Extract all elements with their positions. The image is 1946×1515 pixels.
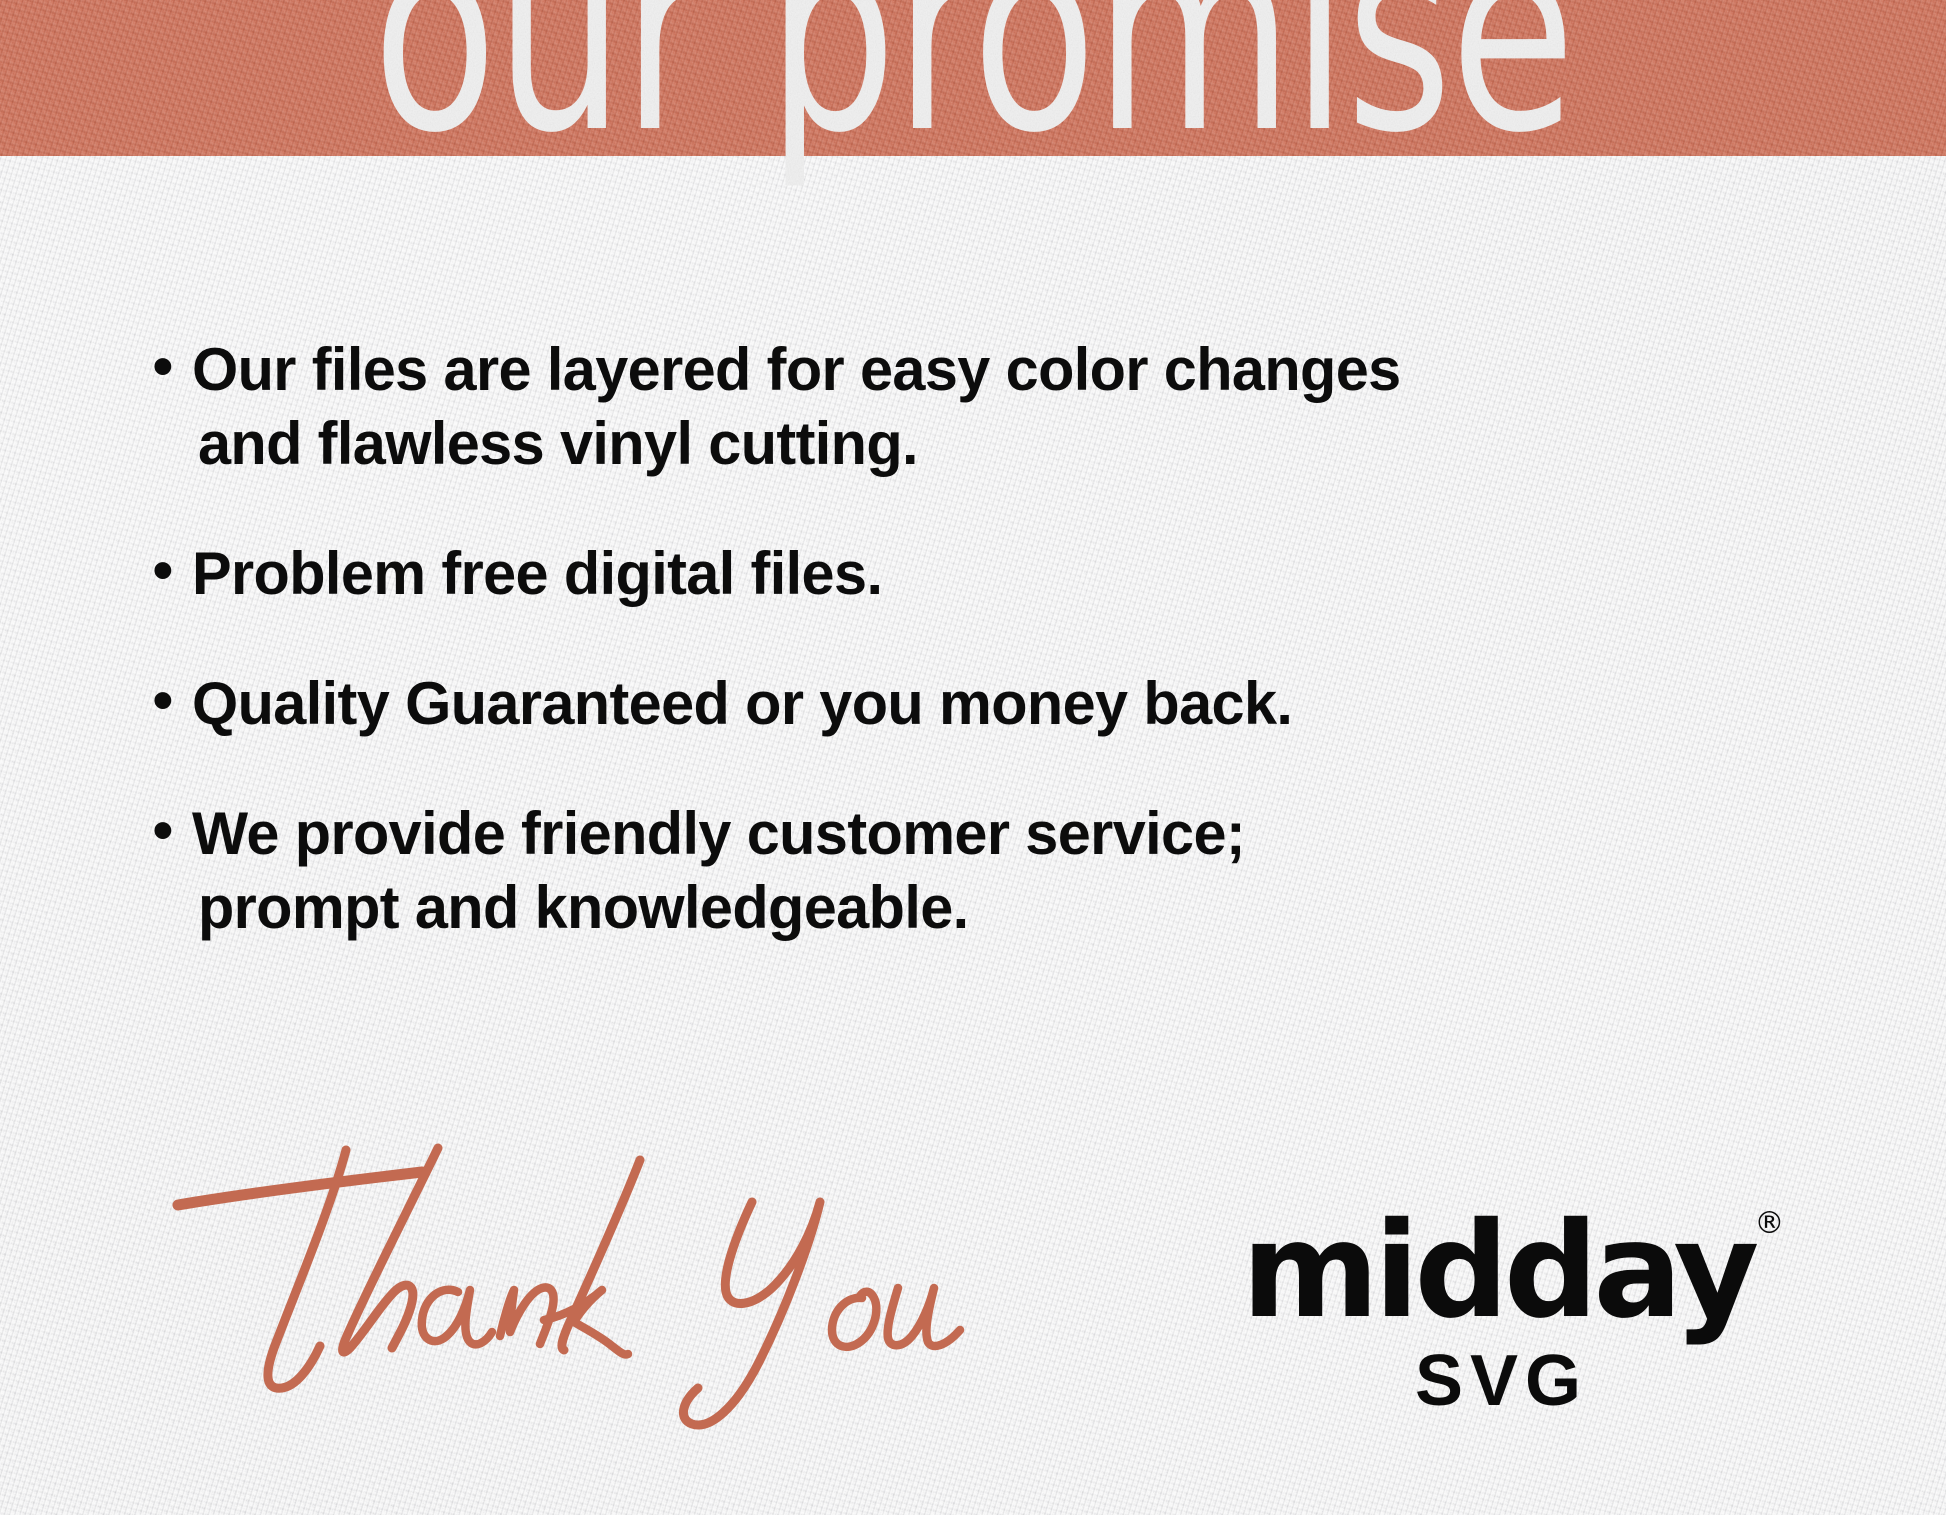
promise-item-text: We provide friendly customer service; pr… — [192, 797, 1756, 945]
logo-wordmark-text: midday — [1242, 1194, 1755, 1348]
thank-you-signature: Thank You — [170, 1140, 1050, 1430]
promise-card: our promise • Our files are layered for … — [0, 0, 1946, 1515]
bullet-icon: • — [152, 535, 192, 607]
promise-item: • Our files are layered for easy color c… — [152, 333, 1772, 481]
promise-item: • Quality Guaranteed or you money back. — [152, 667, 1772, 741]
promise-item-line2: prompt and knowledgeable. — [192, 871, 1756, 945]
bullet-icon: • — [152, 665, 192, 737]
promise-item-line2: and flawless vinyl cutting. — [192, 407, 1756, 481]
promise-item: • We provide friendly customer service; … — [152, 797, 1772, 945]
bullet-icon: • — [152, 795, 192, 867]
promise-item-text: Our files are layered for easy color cha… — [192, 333, 1756, 481]
promise-item: • Problem free digital files. — [152, 537, 1772, 611]
logo-wordmark: midday ® — [1242, 1205, 1755, 1337]
promise-item-line1: Problem free digital files. — [192, 540, 882, 607]
promise-list: • Our files are layered for easy color c… — [152, 333, 1772, 945]
page-title: our promise — [0, 0, 1946, 156]
header-title-text: our promise — [372, 0, 1573, 194]
promise-item-line1: Our files are layered for easy color cha… — [192, 336, 1401, 403]
promise-item-text: Quality Guaranteed or you money back. — [192, 667, 1756, 741]
logo-subtitle: SVG — [1218, 1343, 1778, 1419]
promise-item-line1: Quality Guaranteed or you money back. — [192, 670, 1292, 737]
promise-item-text: Problem free digital files. — [192, 537, 1756, 611]
registered-trademark-icon: ® — [1754, 1209, 1784, 1239]
bullet-icon: • — [152, 331, 192, 403]
promise-item-line1: We provide friendly customer service; — [192, 800, 1245, 867]
brand-logo: midday ® SVG — [1218, 1205, 1778, 1419]
